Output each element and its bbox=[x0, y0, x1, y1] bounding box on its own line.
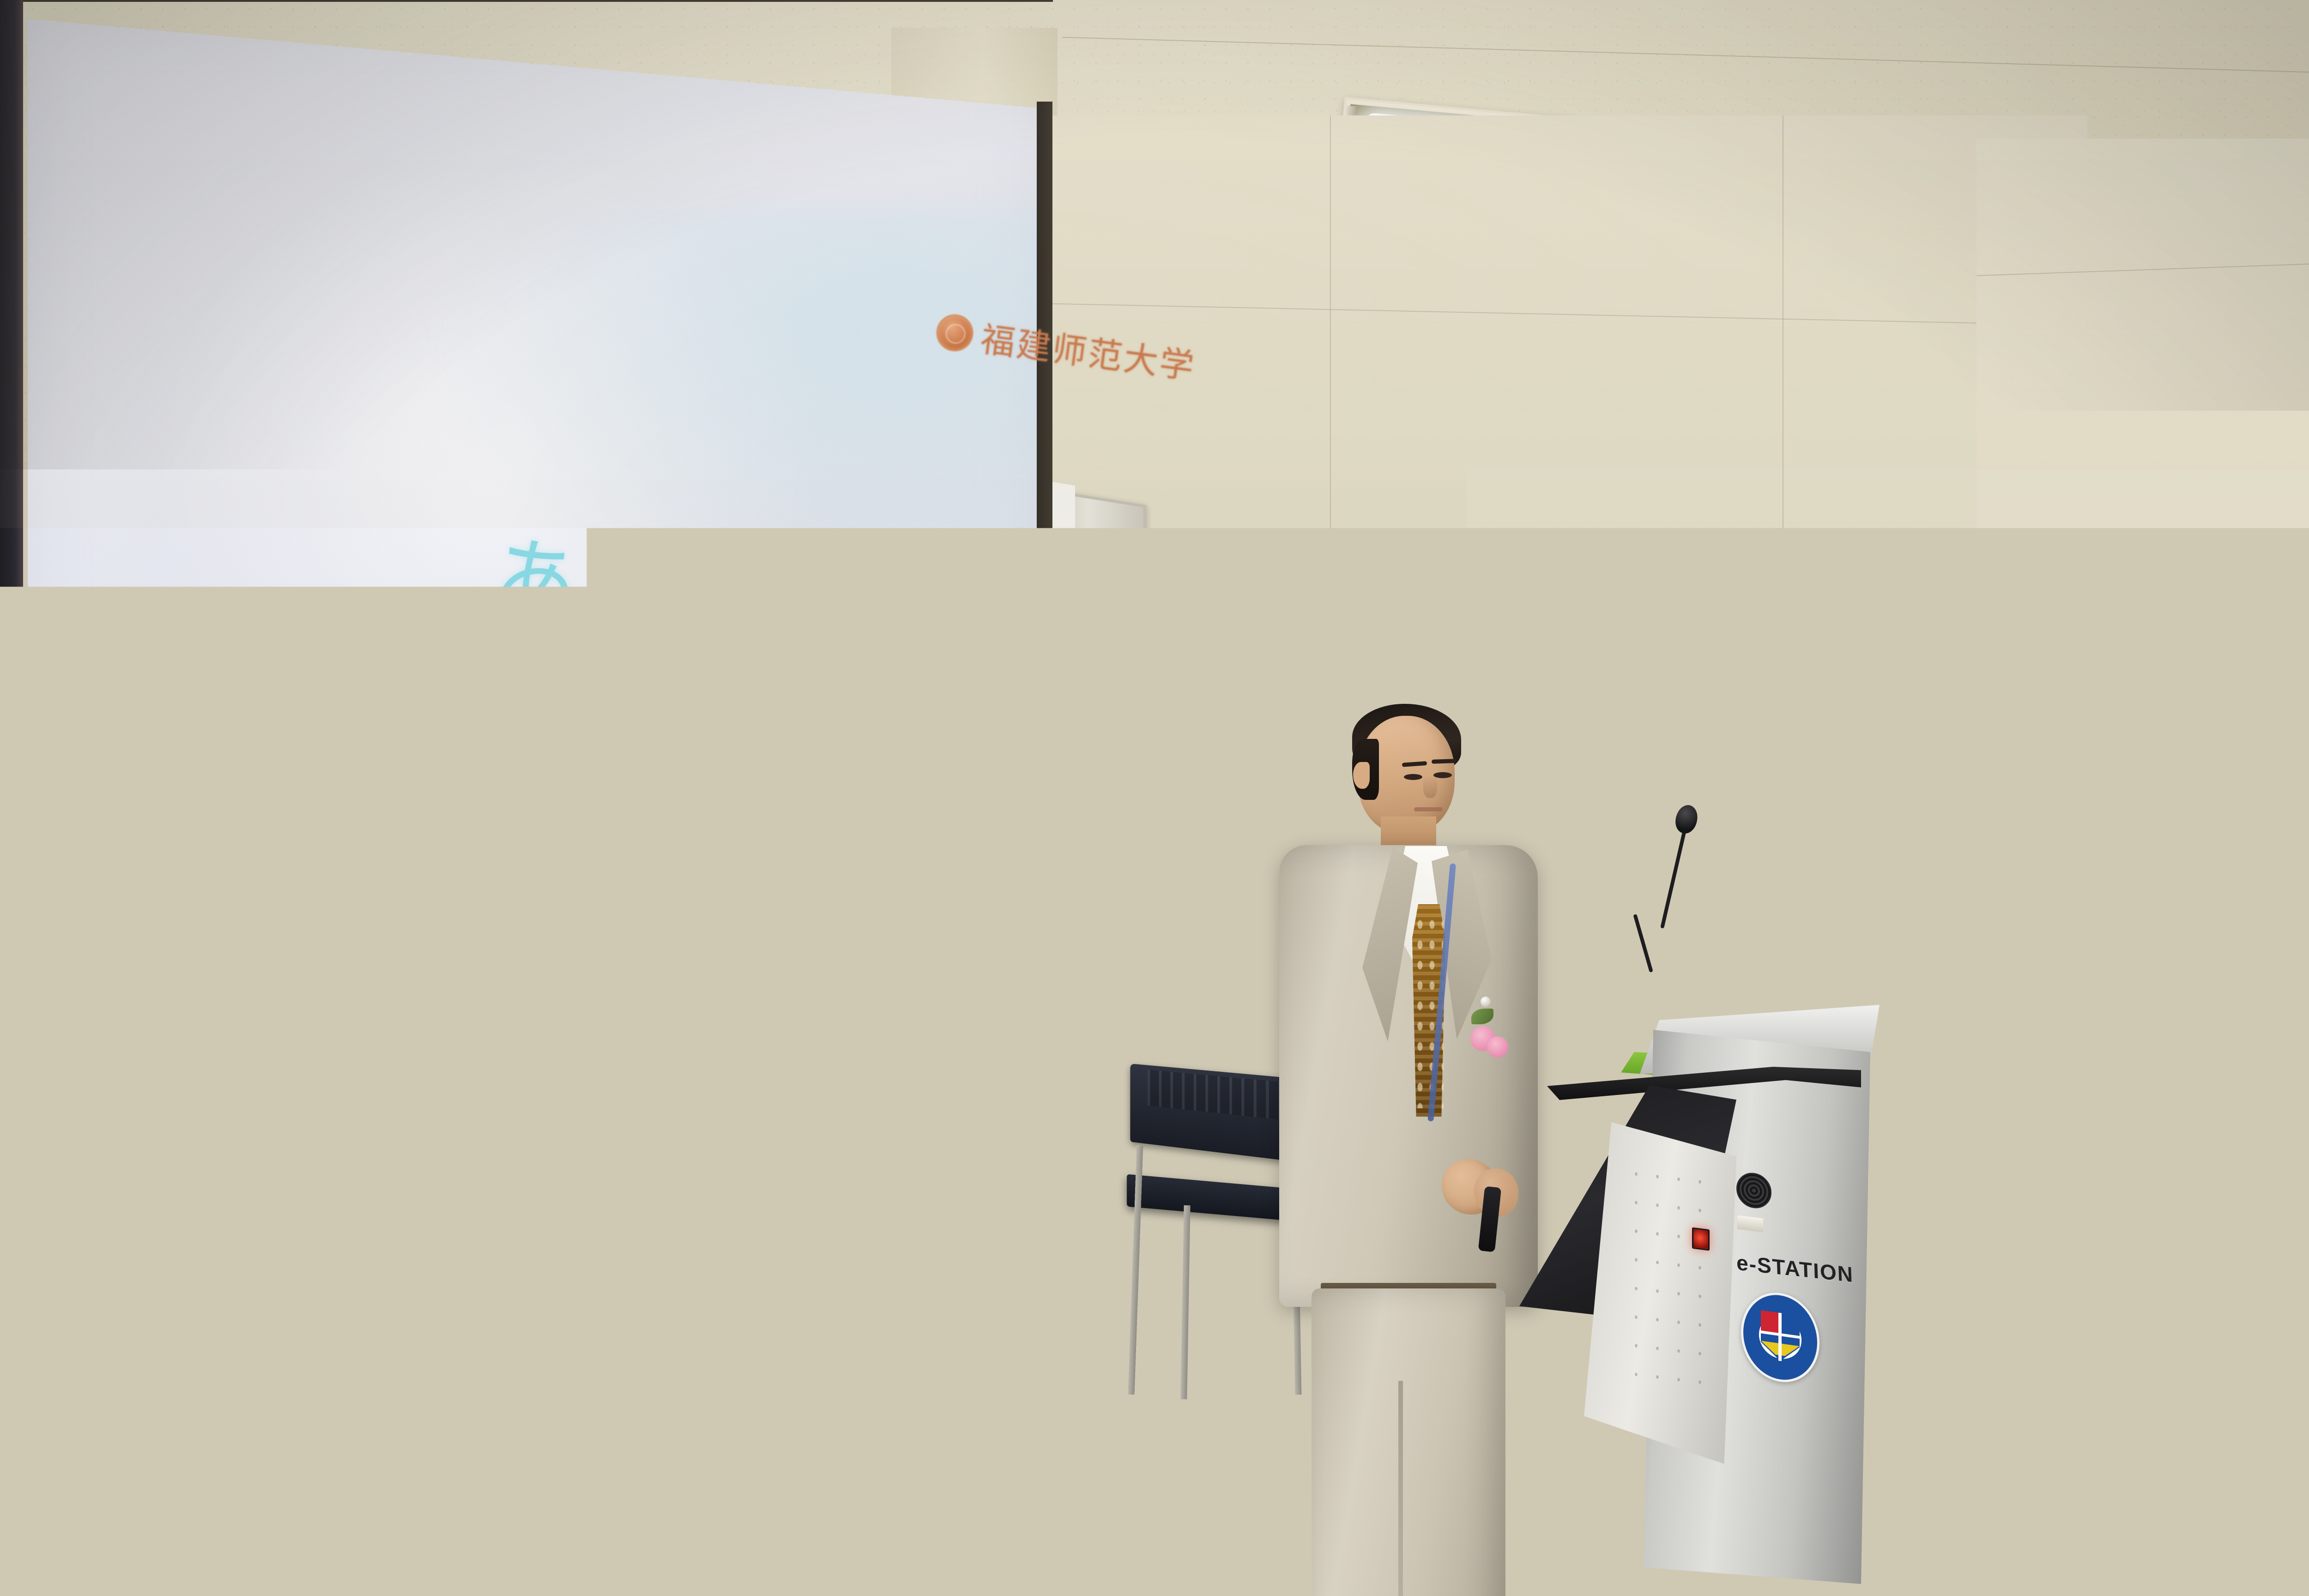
lectern-panel-dots bbox=[1626, 1158, 1713, 1409]
chair-right-back[interactable] bbox=[2304, 1108, 2309, 1210]
presenter bbox=[1265, 697, 1552, 1575]
trousers bbox=[1312, 1288, 1505, 1596]
university-seal-icon bbox=[934, 312, 976, 353]
screen-right-border bbox=[1037, 102, 1052, 1358]
eye bbox=[1433, 772, 1452, 778]
seal-shield-cross-vertical bbox=[1778, 1312, 1782, 1361]
eye bbox=[1404, 774, 1422, 780]
lectern[interactable]: e-STATION bbox=[1556, 970, 1935, 1584]
power-indicator-icon bbox=[1692, 1227, 1710, 1251]
wall-panel-seam bbox=[1977, 664, 2309, 676]
lapel-pin-icon bbox=[1481, 997, 1491, 1007]
ear bbox=[1353, 762, 1370, 789]
wall-panel-seam bbox=[1048, 303, 2087, 326]
chair-leg bbox=[2225, 1348, 2255, 1533]
wall-panel-seam bbox=[1977, 1067, 2309, 1077]
mouth bbox=[1414, 807, 1443, 811]
chair-backrest bbox=[2304, 1108, 2309, 1210]
eyebrow bbox=[1432, 759, 1457, 764]
nose bbox=[1423, 775, 1437, 798]
trouser-crease bbox=[1398, 1381, 1403, 1596]
screen-top-border bbox=[23, 0, 1053, 2]
wall-panel-seam bbox=[1977, 260, 2309, 276]
chair-right-legs bbox=[2217, 1348, 2309, 1542]
flower-corsage bbox=[1469, 1016, 1517, 1070]
photo-scene: ありがとうございました 福建师范大学 bbox=[0, 0, 2309, 1596]
screen-left-border bbox=[0, 0, 23, 1593]
corsage-petal bbox=[1487, 1036, 1508, 1058]
